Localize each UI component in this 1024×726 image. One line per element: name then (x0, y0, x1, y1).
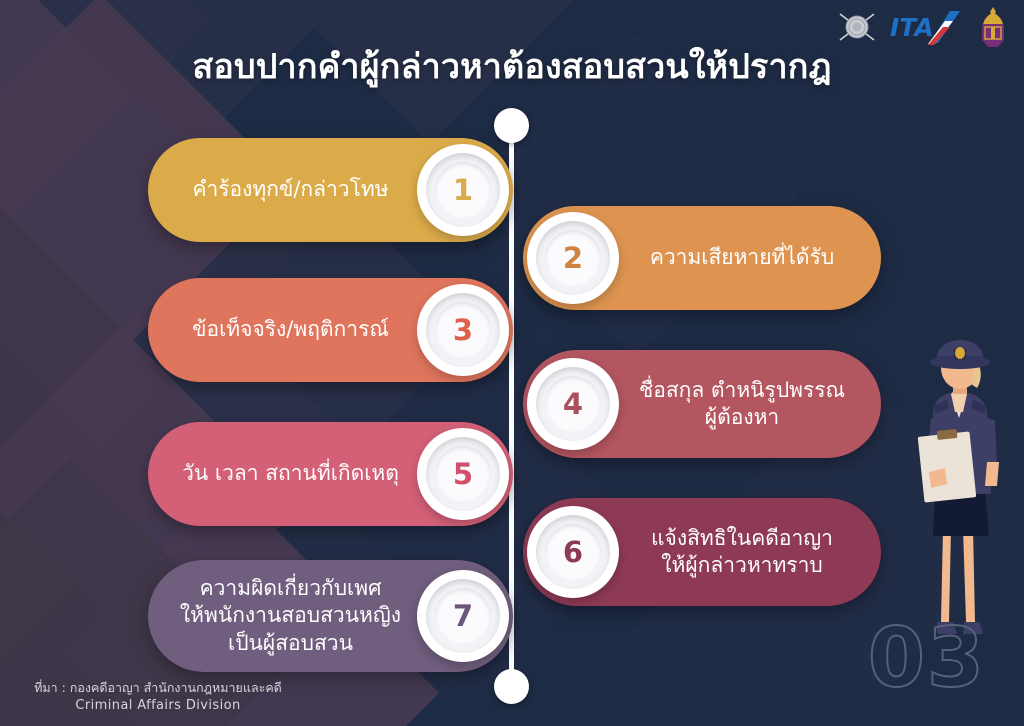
step-badge-6: 6 (527, 506, 619, 598)
step-number-1: 1 (453, 176, 473, 205)
section-number: 03 (868, 618, 986, 700)
step-label-7: ความผิดเกี่ยวกับเพศ ให้พนักงานสอบสวนหญิง… (148, 575, 417, 657)
step-label-1: คำร้องทุกข์/กล่าวโทษ (148, 176, 417, 203)
step-number-5: 5 (453, 460, 473, 489)
footer-source: ที่มา : กองคดีอาญา สำนักงานกฎหมายและคดี … (8, 679, 308, 716)
step-number-4: 4 (563, 390, 583, 419)
step-label-5: วัน เวลา สถานที่เกิดเหตุ (148, 460, 417, 487)
ita-logo-icon: ITA (890, 7, 964, 51)
step-badge-2: 2 (527, 212, 619, 304)
logo-group: ITA (836, 6, 1010, 52)
garuda-royal-emblem-icon (976, 6, 1010, 52)
svg-text:ITA: ITA (890, 13, 934, 42)
step-badge-1: 1 (417, 144, 509, 236)
step-pill-1[interactable]: คำร้องทุกข์/กล่าวโทษ1 (148, 138, 513, 242)
step-number-3: 3 (453, 316, 473, 345)
step-number-2: 2 (563, 244, 583, 273)
step-label-2: ความเสียหายที่ได้รับ (619, 244, 881, 271)
step-pill-5[interactable]: วัน เวลา สถานที่เกิดเหตุ5 (148, 422, 513, 526)
step-badge-7: 7 (417, 570, 509, 662)
step-number-6: 6 (563, 538, 583, 567)
page-title: สอบปากคำผู้กล่าวหาต้องสอบสวนให้ปรากฎ (0, 46, 1024, 89)
step-number-7: 7 (453, 602, 473, 631)
step-pill-2[interactable]: 2ความเสียหายที่ได้รับ (523, 206, 881, 310)
step-label-3: ข้อเท็จจริง/พฤติการณ์ (148, 316, 417, 343)
timeline-top-dot (494, 108, 529, 143)
step-label-4: ชื่อสกุล ตำหนิรูปพรรณ ผู้ต้องหา (619, 377, 881, 432)
step-pill-6[interactable]: 6แจ้งสิทธิในคดีอาญา ให้ผู้กล่าวหาทราบ (523, 498, 881, 606)
footer-line-1: ที่มา : กองคดีอาญา สำนักงานกฎหมายและคดี (8, 679, 308, 697)
step-badge-3: 3 (417, 284, 509, 376)
step-badge-4: 4 (527, 358, 619, 450)
step-pill-3[interactable]: ข้อเท็จจริง/พฤติการณ์3 (148, 278, 513, 382)
timeline-bottom-dot (494, 669, 529, 704)
step-pill-4[interactable]: 4ชื่อสกุล ตำหนิรูปพรรณ ผู้ต้องหา (523, 350, 881, 458)
infographic-canvas: ITA สอบปากคำผู้กล่าวหาต้องสอบสวนให้ปรากฎ… (0, 0, 1024, 726)
step-pill-7[interactable]: ความผิดเกี่ยวกับเพศ ให้พนักงานสอบสวนหญิง… (148, 560, 513, 672)
step-badge-5: 5 (417, 428, 509, 520)
step-label-6: แจ้งสิทธิในคดีอาญา ให้ผู้กล่าวหาทราบ (619, 525, 881, 580)
royal-thai-police-emblem-icon (836, 6, 878, 52)
female-police-officer-with-clipboard-illustration (893, 340, 1024, 650)
footer-line-2: Criminal Affairs Division (8, 697, 308, 716)
